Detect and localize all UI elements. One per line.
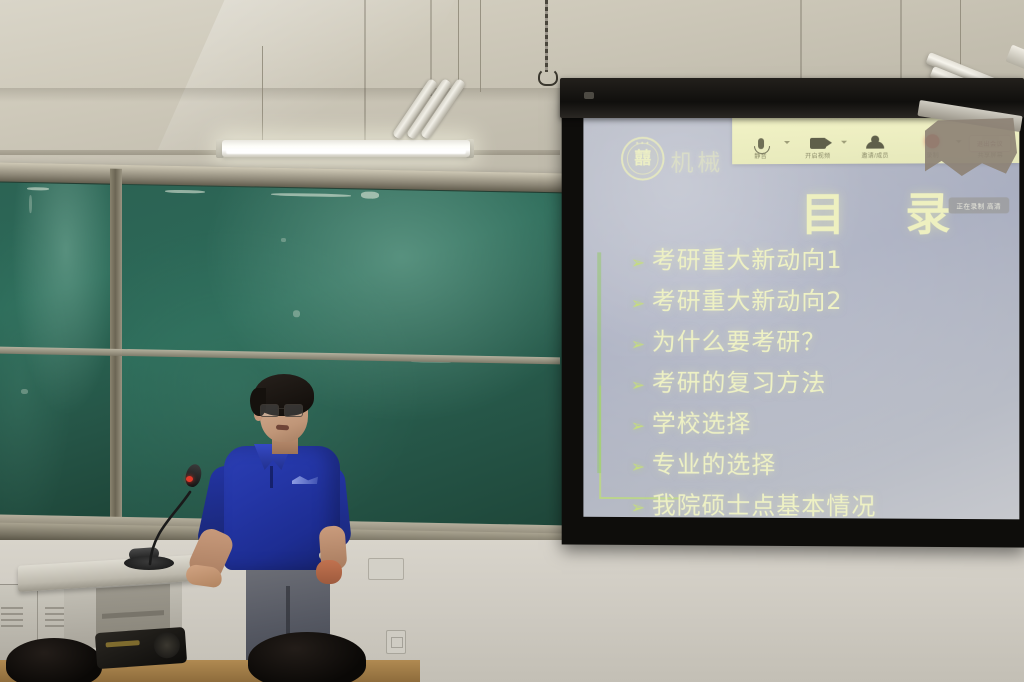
list-item: ➢ 专业的选择 (631, 444, 1001, 481)
screen-chain (545, 0, 548, 72)
presenter (196, 370, 366, 670)
microphone-icon (758, 132, 764, 149)
ceiling-shadow (0, 88, 620, 102)
bullet-text: 专业的选择 (652, 444, 776, 479)
start-video-label: 开启视频 (805, 151, 830, 160)
presentation-slide: ✦✦✦ 囍 机械 目 录 ➢ 考研重大新动向1 ➢ 考研重大新动向2 (583, 111, 1019, 520)
start-video-button[interactable]: 开启视频 (795, 132, 841, 160)
bullet-text: 考研重大新动向1 (652, 240, 843, 275)
university-seal-logo: ✦✦✦ 囍 (621, 137, 665, 181)
bullet-text: 我院硕士点基本情况 (652, 485, 876, 519)
bullet-marker-icon: ➢ (631, 499, 645, 516)
bullet-marker-icon: ➢ (631, 377, 645, 394)
projected-slide-area: ✦✦✦ 囍 机械 目 录 ➢ 考研重大新动向1 ➢ 考研重大新动向2 (583, 111, 1019, 520)
bullet-text: 考研的复习方法 (652, 363, 826, 398)
list-item: ➢ 为什么要考研？ (631, 322, 1001, 357)
list-item: ➢ 考研重大新动向2 (631, 281, 1001, 316)
audience-head (248, 632, 366, 682)
bullet-text: 考研重大新动向2 (652, 281, 843, 316)
presenter-shirt-placket (270, 466, 273, 488)
bullet-marker-icon: ➢ (631, 254, 645, 271)
chevron-down-icon[interactable] (841, 141, 847, 144)
screen-knob (584, 92, 594, 99)
ceiling-seam (364, 0, 366, 150)
list-item: ➢ 考研重大新动向1 (631, 240, 1001, 276)
screen-hook (538, 68, 558, 86)
participants-button[interactable]: 邀请/成员 (852, 131, 898, 159)
audience-head (6, 638, 102, 682)
light-hanger-wire (262, 46, 263, 142)
presenter-right-hand (316, 560, 342, 584)
bullet-text: 学校选择 (652, 404, 751, 439)
participants-label: 邀请/成员 (861, 151, 888, 160)
list-item: ➢ 学校选择 (631, 404, 1001, 440)
bullet-marker-icon: ➢ (631, 418, 645, 435)
mute-button[interactable]: 静音 (738, 132, 784, 160)
light-switch[interactable] (368, 558, 404, 580)
fluorescent-tube-main (222, 140, 470, 157)
slide-bullet-list: ➢ 考研重大新动向1 ➢ 考研重大新动向2 ➢ 为什么要考研？ ➢ 考研的复习方… (631, 240, 1001, 520)
microphone-stem (148, 486, 151, 560)
chevron-down-icon[interactable] (784, 141, 790, 144)
microphone-led-indicator (186, 476, 193, 482)
recording-status-badge: 正在录制 高清 (948, 197, 1009, 213)
bullet-marker-icon: ➢ (631, 295, 645, 312)
power-outlet[interactable] (386, 630, 406, 654)
slide-left-accent-bar (597, 252, 601, 473)
fluorescent-tube-angled (430, 78, 494, 132)
slide-org-name: 机械 (671, 143, 725, 177)
bullet-text: 为什么要考研？ (652, 322, 826, 357)
camera-on-desk (95, 627, 187, 669)
list-item: ➢ 我院硕士点基本情况 (631, 485, 1001, 519)
participants-icon (866, 132, 884, 149)
glasses-icon (260, 404, 304, 415)
presenter-mouth (276, 425, 289, 431)
bullet-marker-icon: ➢ (631, 336, 645, 353)
camera-icon (810, 132, 826, 149)
list-item: ➢ 考研的复习方法 (631, 363, 1001, 399)
bullet-marker-icon: ➢ (631, 458, 645, 475)
slide-title: 目 录 (583, 177, 1007, 243)
classroom-photo-scene: ✦✦✦ 囍 机械 目 录 ➢ 考研重大新动向1 ➢ 考研重大新动向2 (0, 0, 1024, 682)
light-hanger-wire (458, 0, 459, 82)
